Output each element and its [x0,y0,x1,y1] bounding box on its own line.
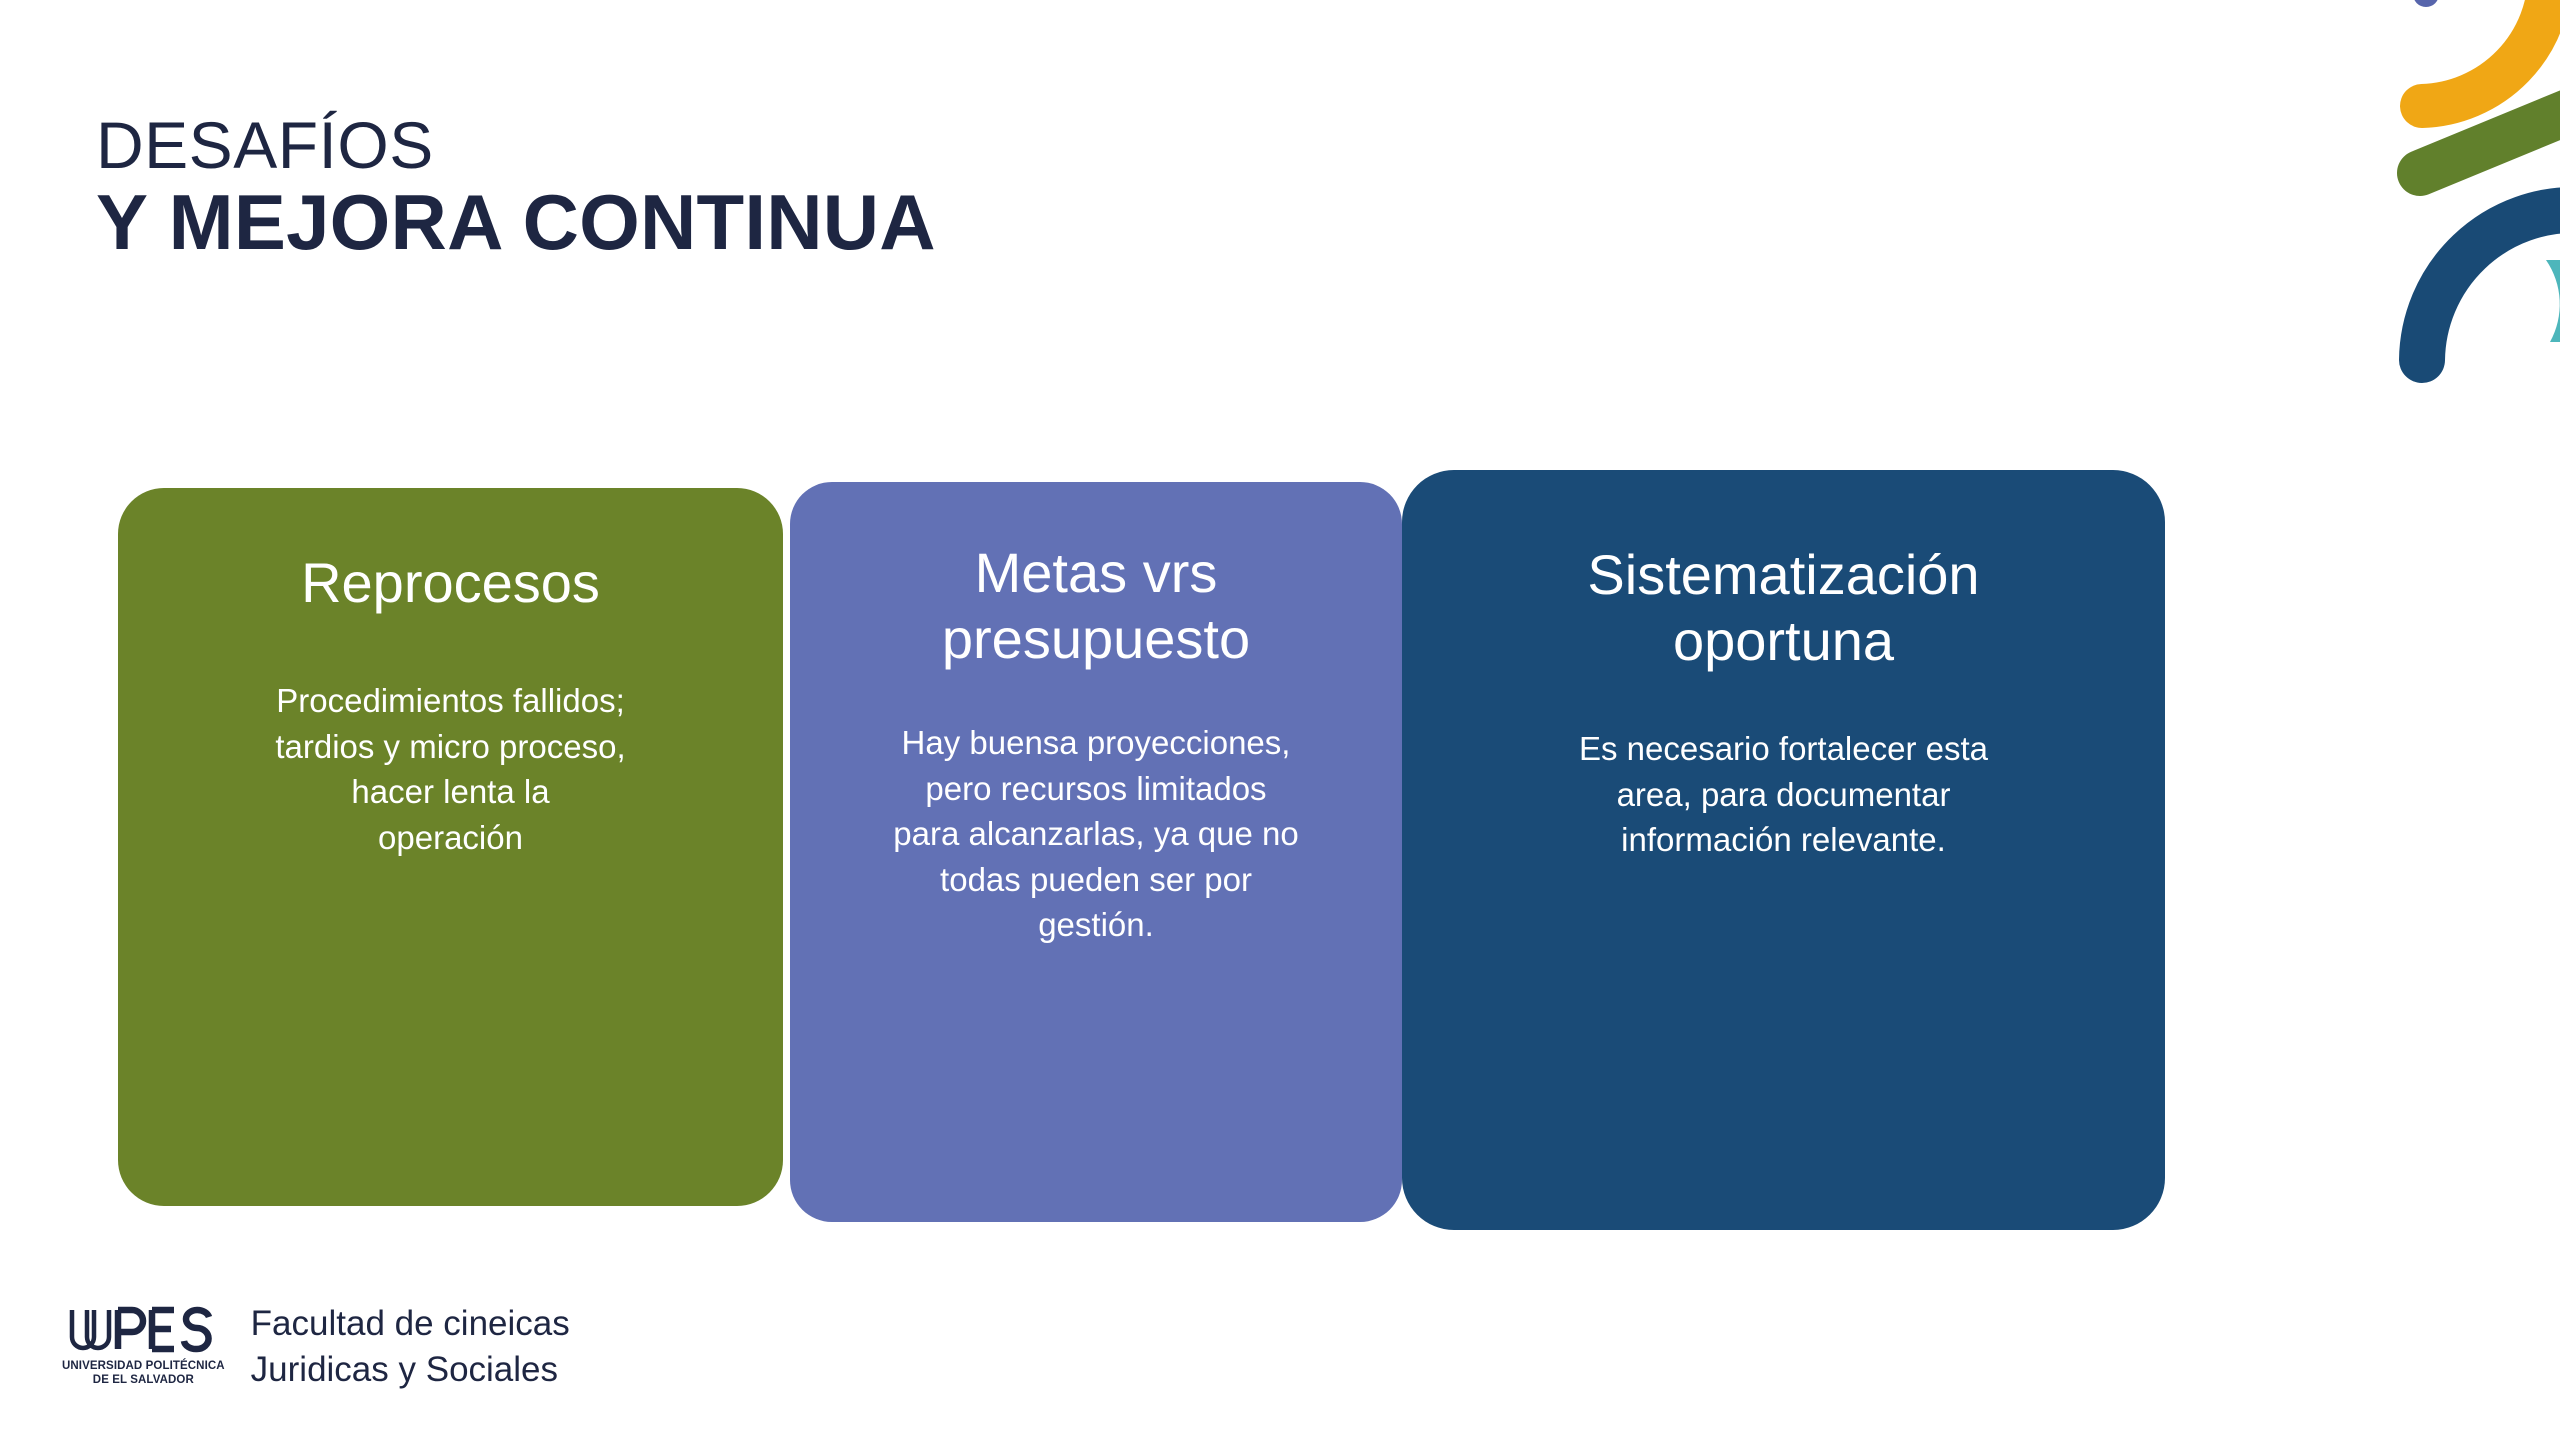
card-reprocesos[interactable]: Reprocesos Procedimientos fallidos; tard… [118,488,783,1206]
card-sistematizacion-title: Sistematización oportuna [1402,542,2165,674]
upes-logo-icon [68,1306,218,1356]
faculty-name: Facultad de cineicas Juridicas y Sociale… [251,1301,570,1392]
card-metas-vrs-presupuesto[interactable]: Metas vrs presupuesto Hay buensa proyecc… [790,482,1402,1222]
card-reprocesos-title: Reprocesos [118,550,783,616]
card-reprocesos-body: Procedimientos fallidos; tardios y micro… [216,678,686,860]
upes-logo: UNIVERSIDAD POLITÉCNICA DE EL SALVADOR [62,1306,225,1387]
footer: UNIVERSIDAD POLITÉCNICA DE EL SALVADOR F… [62,1301,570,1392]
card-sistematizacion-body: Es necesario fortalecer esta area, para … [1479,726,2089,863]
card-metas-body: Hay buensa proyecciones, pero recursos l… [831,720,1361,948]
card-sistematizacion-oportuna[interactable]: Sistematización oportuna Es necesario fo… [1402,470,2165,1230]
upes-logo-subtitle: UNIVERSIDAD POLITÉCNICA DE EL SALVADOR [62,1359,225,1387]
cards-row: Reprocesos Procedimientos fallidos; tard… [0,0,2560,1440]
card-metas-title: Metas vrs presupuesto [790,540,1402,672]
